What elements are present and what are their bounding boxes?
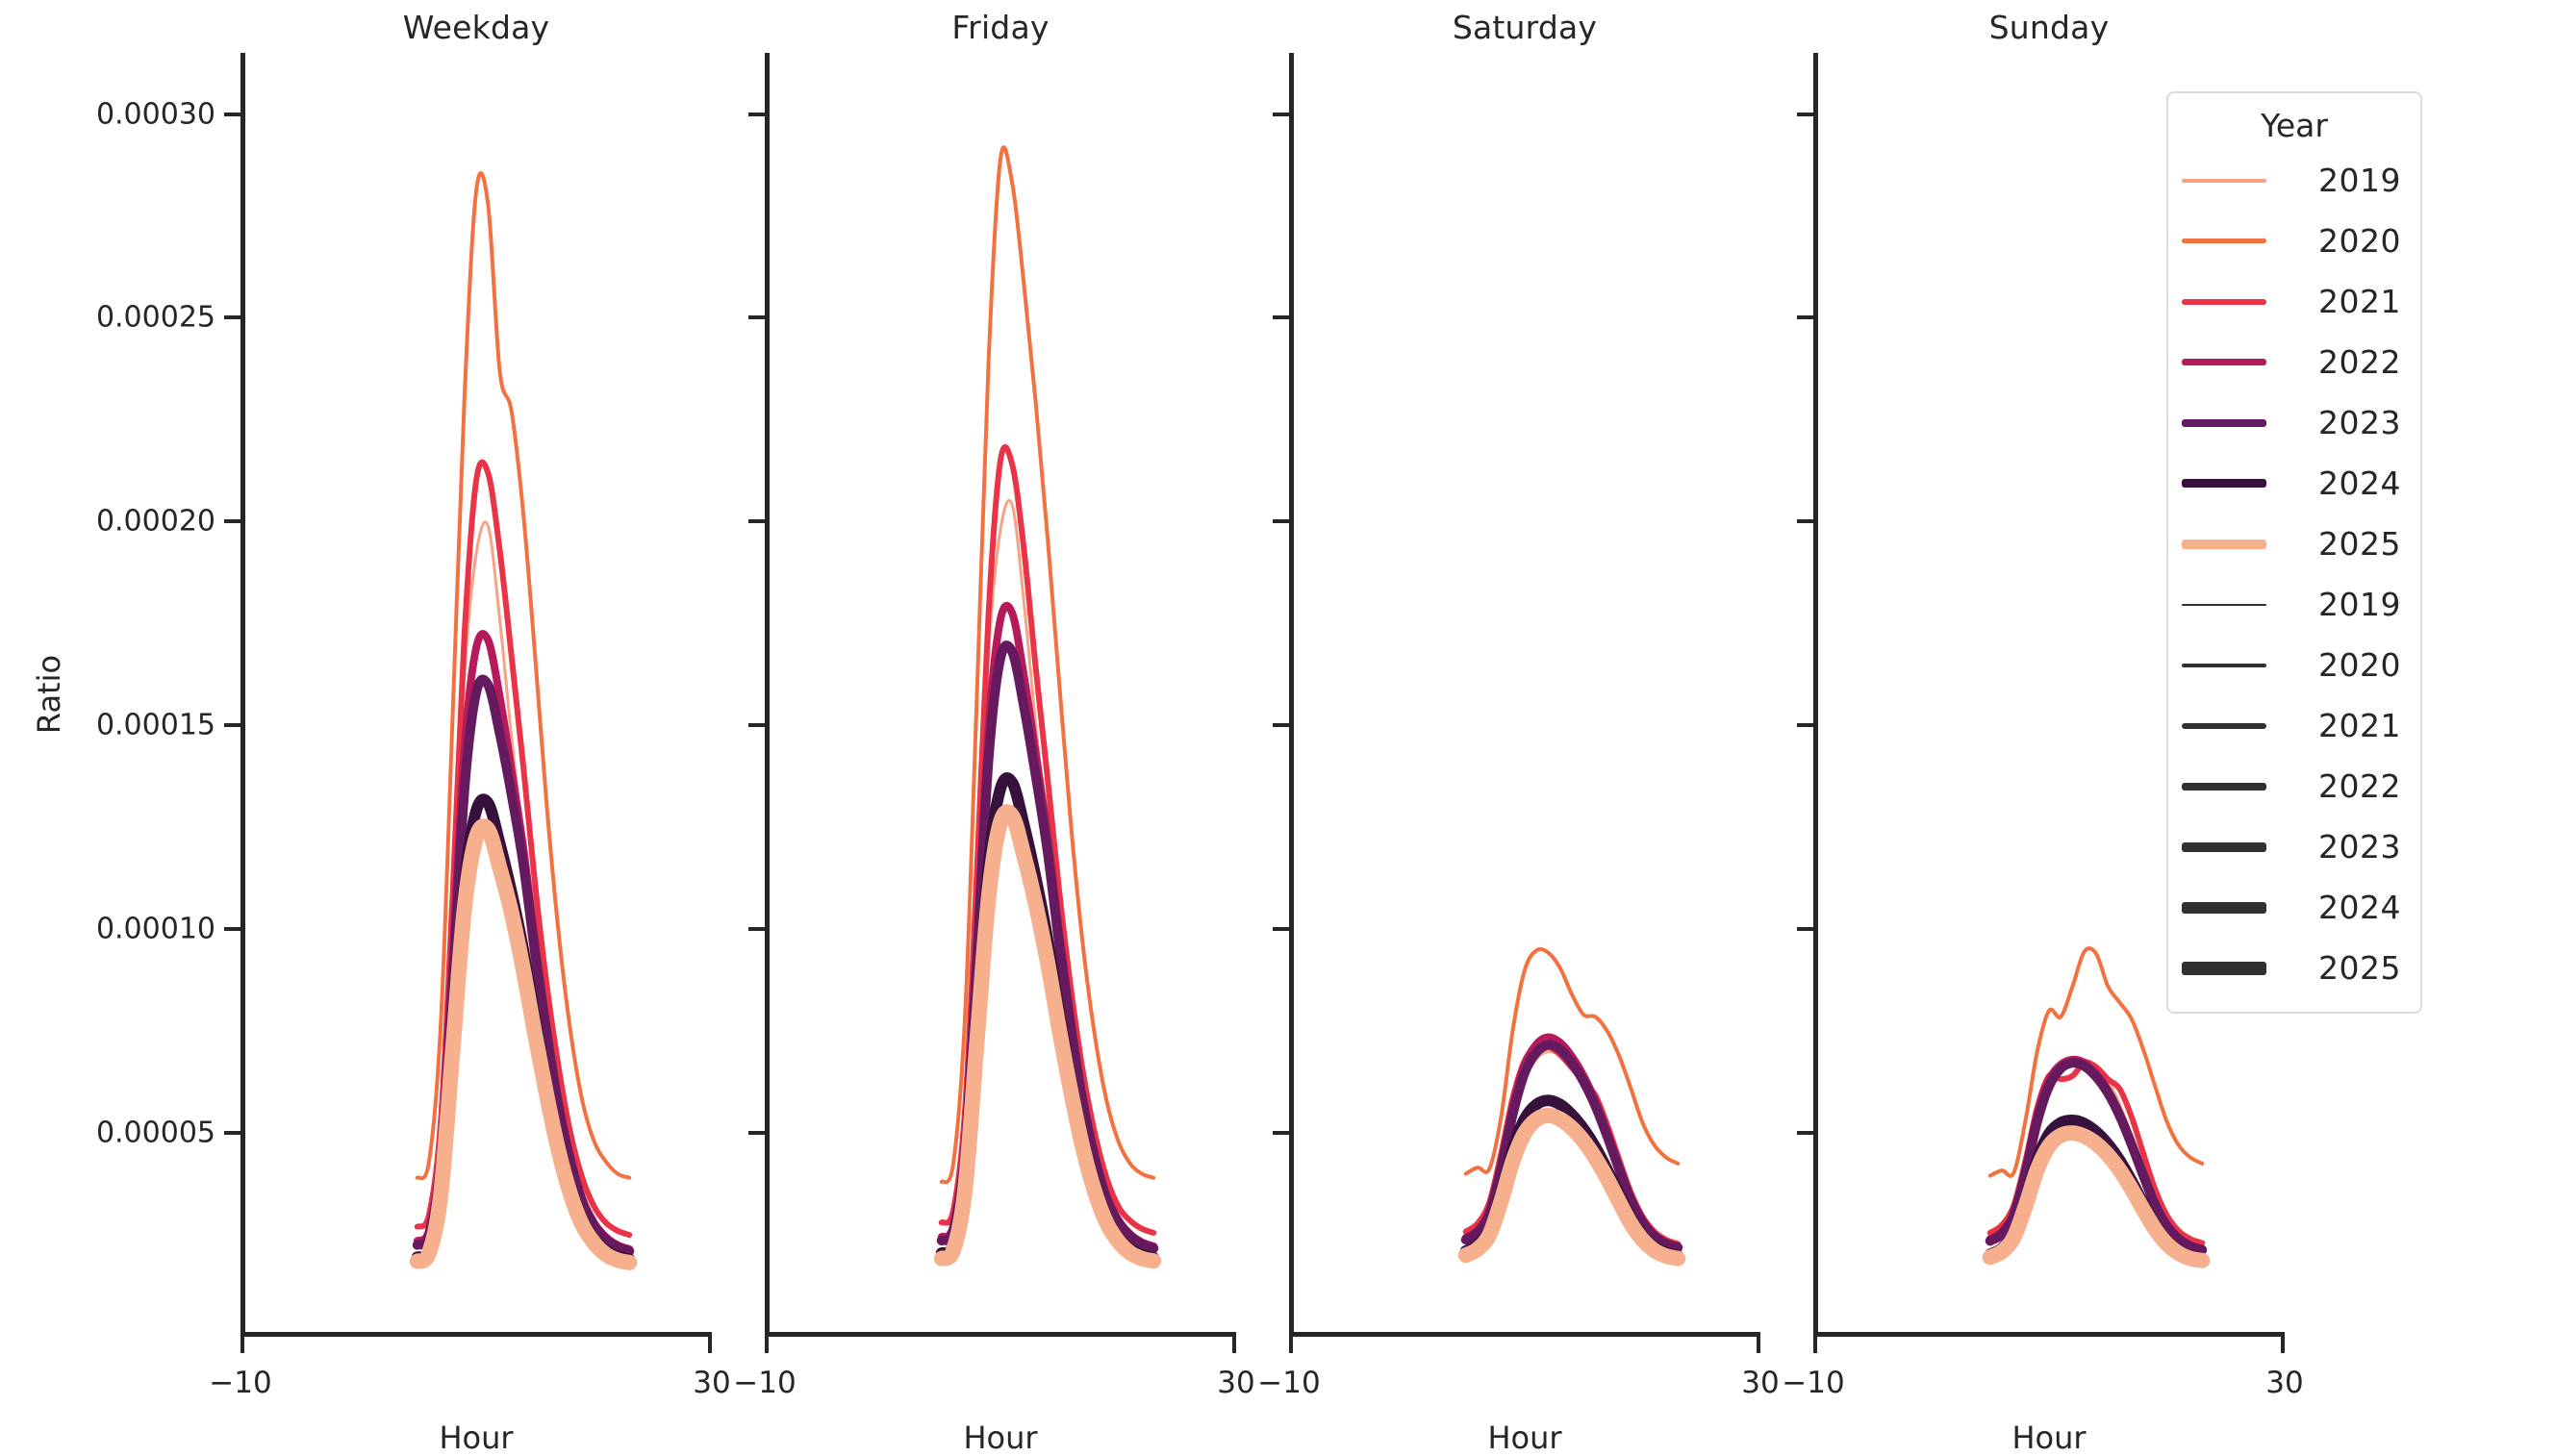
legend-line-swatch-icon: [2182, 723, 2274, 729]
x-axis-tick-label: 30: [693, 1366, 730, 1400]
y-axis-tick: [224, 723, 240, 727]
legend-line-swatch-icon: [2182, 238, 2274, 243]
legend-swatch-bar: [2182, 723, 2266, 729]
legend-item-color-2024[interactable]: 2024: [2182, 453, 2407, 514]
legend-swatch-bar: [2182, 419, 2266, 427]
y-axis-tick-label: 0.00005: [96, 1117, 215, 1150]
x-axis-label: Hour: [765, 1419, 1236, 1456]
x-axis-tick: [708, 1337, 712, 1353]
legend-item-label: 2023: [2274, 404, 2407, 441]
y-axis-tick: [1273, 1131, 1289, 1135]
y-axis-tick: [1797, 723, 1813, 727]
y-axis-tick: [1273, 113, 1289, 116]
y-axis-label: Ratio: [31, 654, 67, 733]
y-axis-tick: [224, 1131, 240, 1135]
legend-item-label: 2025: [2274, 525, 2407, 563]
legend-line-swatch-icon: [2182, 479, 2274, 488]
plot-lines: [1289, 53, 1760, 1337]
legend-swatch-bar: [2182, 783, 2266, 791]
x-axis-tick: [1757, 1337, 1760, 1353]
x-axis-tick-label: −10: [209, 1366, 271, 1400]
legend-item-color-2022[interactable]: 2022: [2182, 332, 2407, 392]
y-axis-tick: [1797, 519, 1813, 523]
legend-swatch-bar: [2182, 179, 2266, 183]
plot-lines: [765, 53, 1236, 1337]
y-axis-tick: [748, 113, 765, 116]
x-axis-tick: [2281, 1337, 2285, 1353]
y-axis-tick: [1273, 315, 1289, 319]
x-axis-tick-label: 30: [1217, 1366, 1254, 1400]
x-axis-tick: [240, 1337, 244, 1353]
x-axis-label: Hour: [240, 1419, 712, 1456]
x-axis-tick: [765, 1337, 769, 1353]
y-axis-tick: [224, 113, 240, 116]
y-axis-tick: [224, 315, 240, 319]
y-axis-tick: [1797, 1131, 1813, 1135]
x-axis-tick-label: −10: [1257, 1366, 1320, 1400]
legend-item-color-2023[interactable]: 2023: [2182, 392, 2407, 453]
panel-title: Sunday: [1813, 9, 2285, 46]
plot-lines: [240, 53, 712, 1337]
legend-swatch-bar: [2182, 540, 2266, 549]
x-axis-label: Hour: [1813, 1419, 2285, 1456]
legend-swatch-bar: [2182, 359, 2266, 365]
legend-item-label: 2019: [2274, 586, 2407, 623]
legend-panel[interactable]: Year 20192020202120222023202420252019202…: [2166, 91, 2422, 1014]
legend-entry-list: 2019202020212022202320242025201920202021…: [2182, 150, 2407, 998]
legend-swatch-bar: [2182, 902, 2266, 914]
legend-swatch-bar: [2182, 604, 2266, 606]
facet-panel-weekday: Weekday0.000050.000100.000150.000200.000…: [240, 53, 712, 1337]
panel-title: Saturday: [1289, 9, 1760, 46]
y-axis-tick-label: 0.00010: [96, 913, 215, 946]
y-axis-tick: [1273, 927, 1289, 931]
facet-panel-saturday: Saturday−1030Hour: [1289, 53, 1760, 1337]
legend-item-label: 2021: [2274, 707, 2407, 744]
legend-swatch-bar: [2182, 842, 2266, 852]
y-axis-tick: [748, 927, 765, 931]
y-axis-tick: [224, 519, 240, 523]
legend-swatch-bar: [2182, 962, 2266, 975]
y-axis-tick: [224, 927, 240, 931]
legend-line-swatch-icon: [2182, 359, 2274, 365]
legend-item-width-2025[interactable]: 2025: [2182, 938, 2407, 998]
legend-item-label: 2020: [2274, 222, 2407, 260]
series-line-2025: [1990, 1133, 2203, 1261]
legend-item-label: 2022: [2274, 343, 2407, 381]
legend-line-swatch-icon: [2182, 179, 2274, 183]
y-axis-tick: [1273, 723, 1289, 727]
legend-swatch-bar: [2182, 299, 2266, 305]
legend-item-width-2023[interactable]: 2023: [2182, 816, 2407, 877]
figure-canvas: Weekday0.000050.000100.000150.000200.000…: [0, 0, 2555, 1443]
legend-swatch-bar: [2182, 238, 2266, 243]
legend-item-color-2019[interactable]: 2019: [2182, 150, 2407, 211]
y-axis-tick: [1797, 927, 1813, 931]
legend-line-swatch-icon: [2182, 540, 2274, 549]
legend-item-width-2019[interactable]: 2019: [2182, 574, 2407, 635]
legend-swatch-bar: [2182, 479, 2266, 488]
legend-line-swatch-icon: [2182, 902, 2274, 914]
y-axis-tick: [748, 519, 765, 523]
legend-line-swatch-icon: [2182, 419, 2274, 427]
legend-line-swatch-icon: [2182, 842, 2274, 852]
x-axis-label: Hour: [1289, 1419, 1760, 1456]
legend-item-label: 2021: [2274, 283, 2407, 320]
legend-swatch-bar: [2182, 664, 2266, 667]
legend-item-width-2024[interactable]: 2024: [2182, 877, 2407, 938]
x-axis-tick-label: −10: [1782, 1366, 1844, 1400]
facet-panel-friday: Friday−1030Hour: [765, 53, 1236, 1337]
y-axis-tick-label: 0.00015: [96, 709, 215, 742]
y-axis-tick-label: 0.00025: [96, 301, 215, 335]
legend-line-swatch-icon: [2182, 604, 2274, 606]
legend-item-label: 2019: [2274, 162, 2407, 199]
legend-item-label: 2023: [2274, 828, 2407, 866]
y-axis-tick: [748, 1131, 765, 1135]
legend-item-color-2021[interactable]: 2021: [2182, 271, 2407, 332]
x-axis-tick: [1813, 1337, 1817, 1353]
y-axis-tick: [748, 315, 765, 319]
y-axis-tick-label: 0.00030: [96, 97, 215, 131]
x-axis-tick: [1232, 1337, 1236, 1353]
legend-title: Year: [2182, 107, 2407, 144]
y-axis-tick: [1797, 113, 1813, 116]
x-axis-tick: [1289, 1337, 1293, 1353]
legend-item-label: 2022: [2274, 767, 2407, 805]
legend-line-swatch-icon: [2182, 783, 2274, 791]
y-axis-tick-label: 0.00020: [96, 505, 215, 539]
panel-title: Weekday: [240, 9, 712, 46]
y-axis-tick: [1273, 519, 1289, 523]
x-axis-tick-label: 30: [1741, 1366, 1779, 1400]
x-axis-tick-label: −10: [733, 1366, 796, 1400]
legend-item-color-2025[interactable]: 2025: [2182, 514, 2407, 574]
legend-line-swatch-icon: [2182, 962, 2274, 975]
legend-item-width-2020[interactable]: 2020: [2182, 635, 2407, 695]
y-axis-tick: [1797, 315, 1813, 319]
x-axis-tick-label: 30: [2265, 1366, 2303, 1400]
legend-item-width-2022[interactable]: 2022: [2182, 756, 2407, 816]
legend-item-label: 2025: [2274, 949, 2407, 987]
legend-item-label: 2020: [2274, 646, 2407, 684]
y-axis-tick: [748, 723, 765, 727]
legend-line-swatch-icon: [2182, 299, 2274, 305]
panel-title: Friday: [765, 9, 1236, 46]
legend-item-width-2021[interactable]: 2021: [2182, 695, 2407, 756]
legend-line-swatch-icon: [2182, 664, 2274, 667]
legend-item-label: 2024: [2274, 889, 2407, 926]
legend-item-color-2020[interactable]: 2020: [2182, 211, 2407, 271]
legend-item-label: 2024: [2274, 464, 2407, 502]
